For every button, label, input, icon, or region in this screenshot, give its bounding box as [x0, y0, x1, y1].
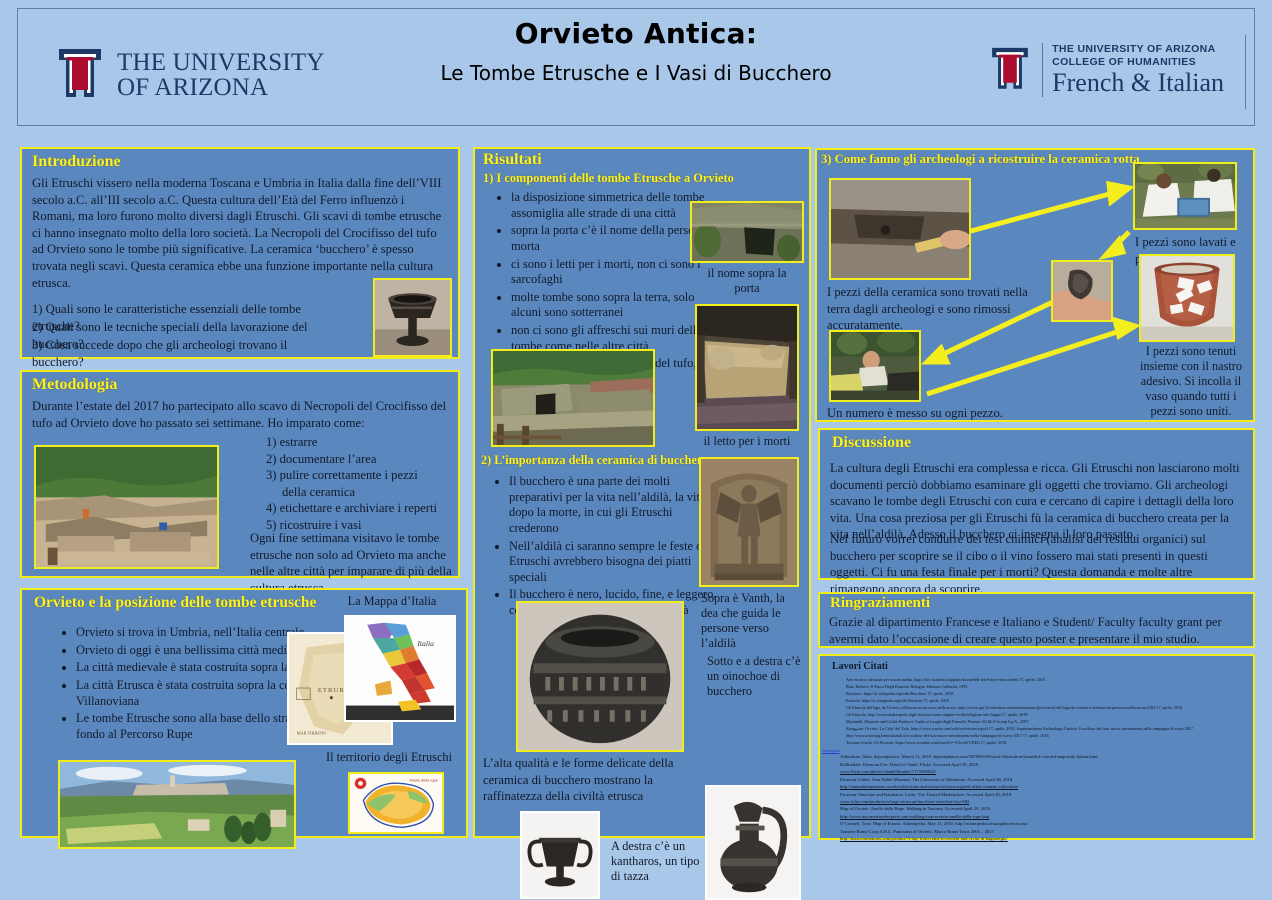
poster-header: THE UNIVERSITY OF ARIZONA Orvieto Antica…: [17, 8, 1255, 126]
excavation-site-image: [34, 445, 219, 569]
lavori-citati-list: Arte etrusca: riassunto per scuola media…: [820, 676, 1253, 746]
risultati-title: Risultati: [483, 151, 542, 169]
discussione-title: Discussione: [832, 434, 911, 452]
panel-introduzione: Introduzione Gli Etruschi vissero nella …: [20, 147, 460, 359]
metodologia-closing: Ogni fine settimana visitavo le tombe et…: [250, 530, 458, 596]
image-citation-entry[interactable]: www.lofty.com/products/a-large-etruscan-…: [840, 798, 1247, 805]
panel-lavori-citati: Lavori Citati Arte etrusca: riassunto pe…: [818, 654, 1255, 840]
come-text-trovati: I pezzi della ceramica sono trovati nell…: [827, 284, 1049, 334]
image-citation-entry: Transfer Rome Coop A.R.L. Panorama of Or…: [840, 828, 1247, 835]
image-citation-entry[interactable]: http://samnoblemuseum.ou.edu/collections…: [840, 783, 1247, 790]
svg-text:MAR TIRRENO: MAR TIRRENO: [297, 730, 327, 735]
image-citation-entry: Etruscan Goblet. Sam Noble Museum. The U…: [840, 776, 1247, 783]
ua-logo-right: THE UNIVERSITY OF ARIZONA COLLEGE OF HUM…: [987, 43, 1224, 97]
svg-text:Anello della rupe: Anello della rupe: [409, 779, 437, 783]
svg-text:Italia: Italia: [416, 639, 434, 648]
citation-entry: Gli Etruschi. http://www.studiarapido.it…: [846, 711, 1245, 718]
image-citation-entry: Dollimdale. Etruscan Urn: Detail of Vant…: [840, 761, 1247, 768]
college-line1: THE UNIVERSITY OF ARIZONA: [1052, 43, 1224, 55]
introduzione-paragraph: Gli Etruschi vissero nella moderna Tosca…: [32, 175, 450, 291]
list-item: Nell’aldilà ci saranno sempre le feste e…: [509, 539, 721, 586]
list-item: Il bucchero è una parte dei molti prepar…: [509, 474, 721, 537]
necropolis-image: [491, 349, 655, 447]
image-citation-entry[interactable]: www.flickr.com/photos/dandellimdale/7174…: [840, 768, 1247, 775]
header-right-divider: [1245, 35, 1246, 109]
citation-entry: Arte etrusca: riassunto per scuola media…: [846, 676, 1245, 683]
panel-discussione: Discussione La cultura degli Etruschi er…: [818, 428, 1255, 580]
bucchero-vase-image: [516, 601, 684, 752]
list-item: sopra la porta c’è il nome della persona…: [511, 223, 707, 254]
anello-rupe-map-image: Anello della rupe: [348, 772, 444, 834]
image-citation-entry: Map of Orvieto. Anello della Rupe. Walki…: [840, 805, 1247, 812]
discussione-paragraph-2: Nel futuro vorrei condurre dei test chim…: [830, 531, 1248, 597]
risultati-section1-title: 1) I componenti delle tombe Etrusche a O…: [483, 171, 734, 186]
orvieto-panorama-image: [58, 760, 296, 849]
department-name: French & Italian: [1052, 69, 1224, 96]
oinochoe-image: [705, 785, 801, 900]
logo-divider: [1042, 43, 1043, 97]
lavori-citati-title: Lavori Citati: [832, 661, 1253, 672]
ringraziamenti-text: Grazie al dipartimento Francese e Italia…: [829, 614, 1247, 647]
citation-entry: http://www.archeopg.beniculturali.it/cro…: [846, 732, 1245, 739]
immagini-list: Alibaskina. Italia. depositphotos. March…: [820, 753, 1253, 842]
metodologia-step-3b: della ceramica: [282, 484, 454, 501]
list-item: la disposizione simmetrica delle tombe a…: [511, 190, 707, 221]
nome-porta-caption: il nome sopra la porta: [697, 266, 797, 296]
metodologia-step-3: 3) pulire correttamente i pezzi: [266, 467, 454, 484]
college-line2: COLLEGE OF HUMANITIES: [1052, 56, 1224, 68]
panel-posizione: Orvieto e la posizione delle tombe etrus…: [20, 588, 468, 838]
taped-vase-image: [1139, 254, 1235, 342]
introduzione-title: Introduzione: [32, 153, 121, 171]
dig-sherd-image: [829, 178, 971, 280]
posizione-title: Orvieto e la posizione delle tombe etrus…: [34, 594, 316, 612]
come-text-tenuti: I pezzi sono tenuti insieme con il nastr…: [1135, 344, 1247, 419]
panel-come-ricostruire: 3) Come fanno gli archeologi a ricostrui…: [815, 148, 1255, 422]
introduzione-question-3: 3) Cosa succede dopo che gli archeologi …: [32, 337, 332, 370]
kantharos-caption: A destra c’è un kantharos, un tipo di ta…: [611, 839, 707, 884]
panel-risultati: Risultati 1) I componenti delle tombe Et…: [473, 147, 811, 838]
quality-text: L’alta qualità e le forme delicate della…: [483, 755, 713, 805]
metodologia-title: Metodologia: [32, 376, 117, 394]
college-wordmark: THE UNIVERSITY OF ARIZONA COLLEGE OF HUM…: [1052, 43, 1224, 96]
image-citation-entry[interactable]: http://marcorometours.com/product/?t-day…: [840, 835, 1247, 842]
panel-metodologia: Metodologia Durante l’estate del 2017 ho…: [20, 370, 460, 578]
panel-ringraziamenti: Ringraziamenti Grazie al dipartimento Fr…: [818, 592, 1255, 648]
image-citation-entry[interactable]: http://www.tuscanytravelexperts.com/walk…: [840, 813, 1247, 820]
territorio-caption: Il territorio degli Etruschi: [310, 750, 468, 765]
metodologia-step-4: 4) etichettare e archiviare i reperti: [266, 500, 454, 517]
metodologia-paragraph: Durante l’estate del 2017 ho partecipato…: [32, 398, 452, 431]
sherd-in-hand-image: [1051, 260, 1113, 322]
tomb-bed-image: [695, 304, 799, 431]
image-citation-entry: Alibaskina. Italia. depositphotos. March…: [840, 753, 1247, 760]
citation-entry: Bosi, Roberto. Il Fasco Degli Etruschi. …: [846, 683, 1245, 690]
bucchero-chalice-image: [373, 278, 452, 357]
citation-entry: Martinelli, Maurizio and Giulio Paolucci…: [846, 718, 1245, 725]
citation-entry: Gli Etruschi del lago, da Orvieto a Bols…: [846, 704, 1245, 711]
risultati-section2-bullets: Il bucchero è una parte dei molti prepar…: [487, 474, 721, 621]
risultati-section2-title: 2) L’importanza della ceramica di bucche…: [481, 453, 708, 468]
image-citation-entry: Etruscan Oinochoe and Kantharos. Lofty: …: [840, 791, 1247, 798]
italy-map-image: Italia: [344, 615, 456, 722]
poster-root: THE UNIVERSITY OF ARIZONA Orvieto Antica…: [0, 0, 1272, 850]
numbering-sherds-image: [829, 330, 921, 402]
vanth-relief-image: [699, 457, 799, 587]
citation-entry: Knapموne: Orvieto. La Citta’ del Tufo. h…: [846, 725, 1245, 732]
metodologia-step-1: 1) estrarre: [266, 434, 454, 451]
kantharos-image: [520, 811, 600, 899]
tomb-door-image: [690, 201, 804, 263]
washing-sherds-image: [1133, 162, 1237, 230]
citation-entry: Etruschi. https://it.wikipedia.org/wiki/…: [846, 697, 1245, 704]
ringraziamenti-title: Ringraziamenti: [830, 595, 930, 612]
list-item: molte tombe sono sopra la terra, solo al…: [511, 290, 707, 321]
list-item: ci sono i letti per i morti, non ci sono…: [511, 257, 707, 288]
metodologia-step-2: 2) documentare l’area: [266, 451, 454, 468]
citation-entry: Bucchero. https://it.wikipedia.org/wiki/…: [846, 690, 1245, 697]
come-title: 3) Come fanno gli archeologi a ricostrui…: [821, 152, 1140, 167]
oinochoe-caption: Sotto e a destra c’è un oinochoe di bucc…: [707, 654, 803, 699]
image-citation-entry: O’Connell, Tony. Map of Etruria. Atlanti…: [840, 820, 1247, 827]
letto-morti-caption: il letto per i morti: [695, 434, 799, 449]
come-text-numero: Un numero è messo su ogni pezzo.: [827, 405, 1037, 422]
citation-entry: Toscana Scuola. Gli Etruschi. https://ww…: [846, 739, 1245, 746]
italy-map-caption: La Mappa d’Italia: [322, 594, 462, 609]
vanth-caption: Sopra è Vanth, la dea che guida le perso…: [701, 591, 797, 651]
ua-block-a-icon-small: [987, 45, 1033, 95]
